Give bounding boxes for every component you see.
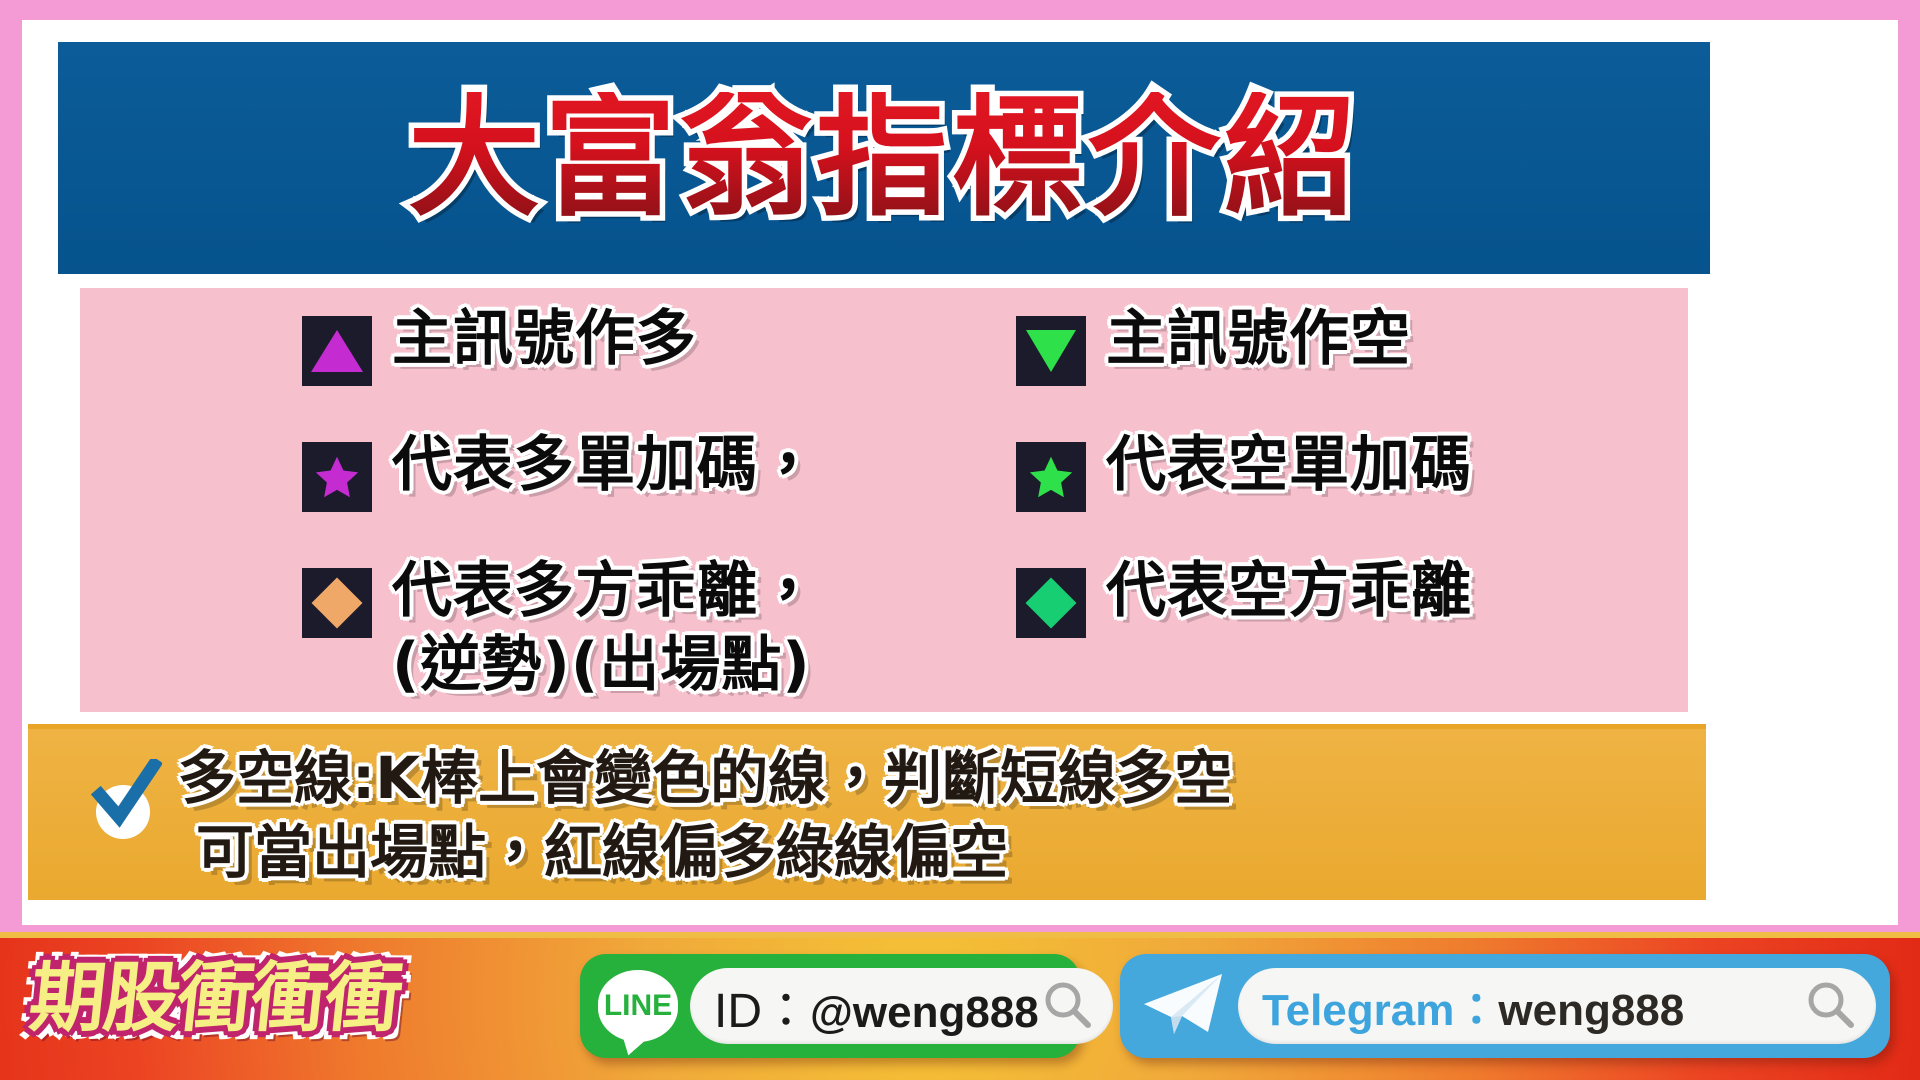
line-badge[interactable]: LINE ID：@weng888 [580, 954, 1080, 1058]
star-icon [1016, 442, 1086, 512]
note-text: 多空線:K棒上會變色的線，判斷短線多空 可當出場點，紅線偏多綠線偏空 [178, 741, 1232, 889]
line-logo-icon: LINE [598, 970, 678, 1042]
brand-logo: 期股衝衝衝 [25, 950, 405, 1046]
triangle-down-icon [1016, 316, 1086, 386]
star-icon [302, 442, 372, 512]
telegram-id-pill[interactable]: Telegram：weng888 [1238, 968, 1876, 1044]
telegram-label: Telegram： [1262, 986, 1498, 1035]
telegram-id-text: Telegram：weng888 [1262, 974, 1684, 1038]
line-id-value: @weng888 [810, 988, 1039, 1037]
legend-label-secondary: (逆勢)(出場點) [392, 628, 819, 702]
poster-root: 大富翁指標介紹 大富翁指標介紹 主訊號作多 [0, 0, 1920, 1080]
line-logo-text: LINE [604, 989, 672, 1023]
legend-item-div-short: 代表空方乖離 [1016, 554, 1688, 658]
legend-item-add-short: 代表空單加碼 [1016, 428, 1688, 532]
diamond-icon [302, 568, 372, 638]
telegram-plane-icon [1136, 968, 1228, 1044]
search-icon[interactable] [1039, 978, 1095, 1034]
footer-bar: 期股衝衝衝 LINE ID：@weng888 [0, 932, 1920, 1080]
title-banner: 大富翁指標介紹 大富翁指標介紹 [58, 42, 1710, 274]
legend-column-long: 主訊號作多 代表多單加碼， [80, 288, 884, 712]
legend-label: 代表多方乖離， [392, 556, 819, 626]
legend-label-group: 代表多方乖離， (逆勢)(出場點) [392, 554, 819, 702]
legend-label: 主訊號作多 [392, 302, 697, 376]
telegram-badge[interactable]: Telegram：weng888 [1120, 954, 1890, 1058]
legend-label: 代表空單加碼 [1106, 428, 1472, 502]
legend-item-main-long: 主訊號作多 [302, 302, 884, 406]
legend-item-div-long: 代表多方乖離， (逆勢)(出場點) [302, 554, 884, 702]
line-id-pill[interactable]: ID：@weng888 [690, 968, 1113, 1044]
legend-column-short: 主訊號作空 代表空單加碼 代表空 [884, 288, 1688, 712]
legend-label: 代表空方乖離 [1106, 554, 1472, 628]
legend-panel: 主訊號作多 代表多單加碼， [80, 288, 1688, 712]
search-icon[interactable] [1802, 978, 1858, 1034]
line-id-label: ID： [714, 985, 810, 1038]
line-id-text: ID：@weng888 [714, 971, 1039, 1041]
footer-top-rule [0, 932, 1920, 938]
legend-label: 代表多單加碼， [392, 428, 819, 502]
triangle-up-icon [302, 316, 372, 386]
legend-label: 主訊號作空 [1106, 302, 1411, 376]
legend-item-add-long: 代表多單加碼， [302, 428, 884, 532]
telegram-value: weng888 [1498, 986, 1684, 1035]
check-icon [82, 755, 168, 841]
note-line-2: 可當出場點，紅線偏多綠線偏空 [196, 815, 1232, 889]
note-box: 多空線:K棒上會變色的線，判斷短線多空 可當出場點，紅線偏多綠線偏空 [28, 724, 1706, 900]
page-title: 大富翁指標介紹 [408, 92, 1360, 224]
diamond-icon [1016, 568, 1086, 638]
note-line-1: 多空線:K棒上會變色的線，判斷短線多空 [178, 741, 1232, 815]
white-inner-panel: 大富翁指標介紹 大富翁指標介紹 主訊號作多 [22, 20, 1898, 925]
legend-item-main-short: 主訊號作空 [1016, 302, 1688, 406]
